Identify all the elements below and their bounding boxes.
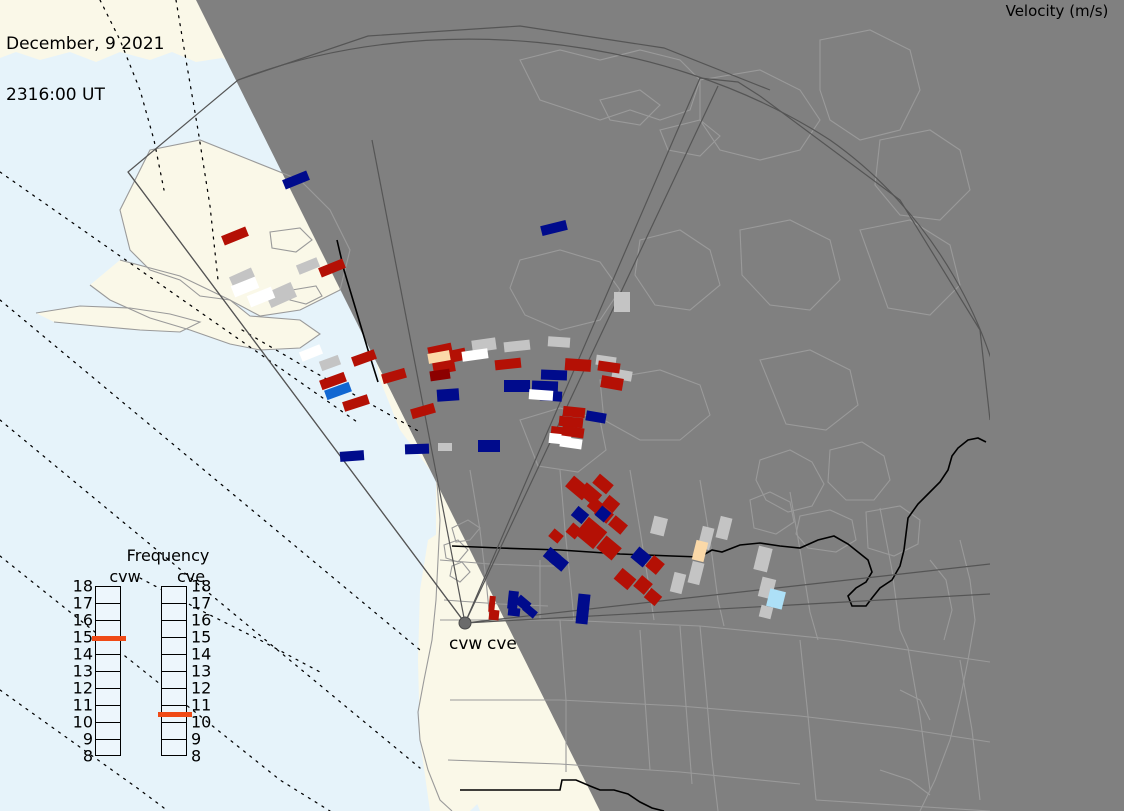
- frequency-segment: [162, 689, 186, 706]
- frequency-segment: [162, 604, 186, 621]
- frequency-bar-cvw: [95, 586, 121, 756]
- velocity-cell-nodata: [438, 443, 452, 451]
- frequency-segment: [162, 672, 186, 689]
- frequency-legend: Frequency cvw cve 18171615141312111098 1…: [95, 546, 241, 786]
- radar-site-marker[interactable]: [459, 617, 471, 629]
- timestamp: December, 9 2021 2316:00 UT: [6, 2, 164, 138]
- velocity-cell: [529, 389, 554, 401]
- frequency-segment: [96, 604, 120, 621]
- velocity-colorbar-panel: Velocity (m/s) 5004003002001000-100-200-…: [990, 0, 1124, 811]
- frequency-column-label: cvw: [95, 568, 155, 586]
- colorbar-title: Velocity (m/s): [990, 2, 1124, 20]
- frequency-column-cvw: cvw: [95, 568, 155, 756]
- frequency-segment: [162, 638, 186, 655]
- velocity-cell: [508, 607, 521, 616]
- frequency-segment: [162, 723, 186, 740]
- velocity-cell: [405, 444, 429, 455]
- frequency-segment: [96, 689, 120, 706]
- velocity-cell: [489, 610, 500, 621]
- frequency-segment: [162, 740, 186, 757]
- frequency-axis-label: 8: [67, 747, 93, 766]
- timestamp-date: December, 9 2021: [6, 36, 164, 53]
- timestamp-time: 2316:00 UT: [6, 87, 164, 104]
- frequency-segment: [162, 587, 186, 604]
- velocity-cell: [504, 380, 530, 392]
- frequency-segment: [96, 723, 120, 740]
- frequency-segment: [96, 740, 120, 757]
- velocity-cell: [478, 440, 500, 452]
- velocity-cell-nodata: [548, 336, 571, 348]
- frequency-segment: [96, 638, 120, 655]
- frequency-segment: [162, 621, 186, 638]
- frequency-segment: [96, 655, 120, 672]
- velocity-cell: [565, 358, 592, 372]
- frequency-segment: [96, 706, 120, 723]
- velocity-cell-nodata: [614, 292, 630, 312]
- frequency-marker: [158, 712, 192, 717]
- frequency-segment: [96, 587, 120, 604]
- frequency-bar-cve: [161, 586, 187, 756]
- velocity-cell: [340, 450, 365, 462]
- frequency-segment: [96, 672, 120, 689]
- frequency-title: Frequency: [95, 546, 241, 565]
- site-label-cvw: cvw: [449, 634, 482, 654]
- frequency-marker: [92, 636, 126, 641]
- site-label-cve: cve: [487, 634, 517, 654]
- velocity-cell: [437, 388, 460, 402]
- frequency-axis-label: 8: [191, 747, 217, 766]
- velocity-cell: [541, 370, 567, 381]
- frequency-segment: [162, 655, 186, 672]
- superdarn-velocity-map: cvw cve Frequency cvw cve 18171615141312…: [0, 0, 1124, 811]
